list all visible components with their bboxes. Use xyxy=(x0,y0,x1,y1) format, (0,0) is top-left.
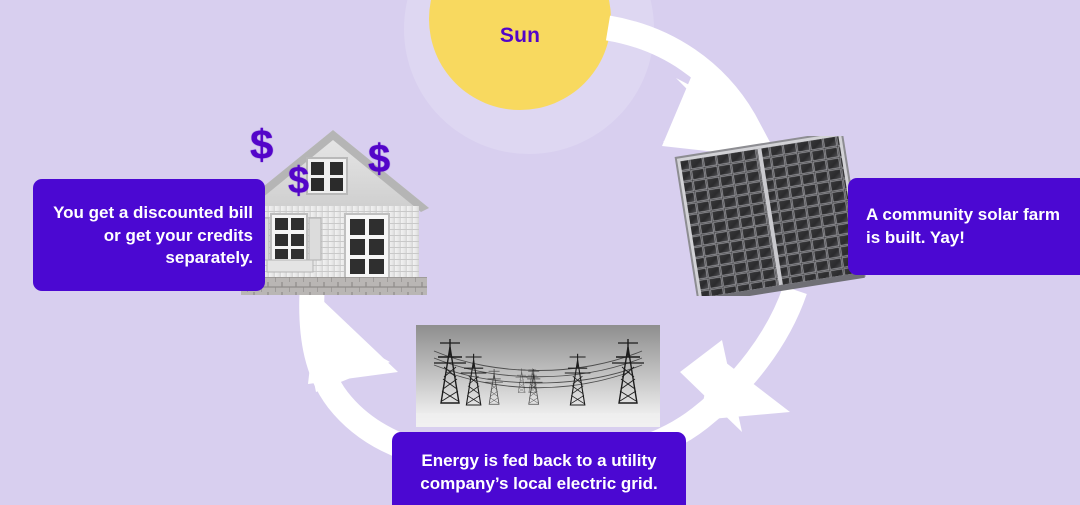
dollar-sign-icon: $ xyxy=(368,139,390,179)
power-transmission-towers-photo xyxy=(416,325,660,427)
solar-cycle-infographic: Sun xyxy=(0,0,1080,505)
solar-panel-photo xyxy=(672,136,867,296)
callout-utility-grid: Energy is fed back to a utility company’… xyxy=(392,432,686,505)
dollar-sign-icon: $ xyxy=(288,162,309,200)
arrow-grid-to-house xyxy=(300,292,430,455)
callout-solar-farm: A community solar farm is built. Yay! xyxy=(848,178,1080,275)
dollar-sign-icon: $ xyxy=(250,124,273,166)
callout-house-savings: You get a discounted bill or get your cr… xyxy=(33,179,265,291)
